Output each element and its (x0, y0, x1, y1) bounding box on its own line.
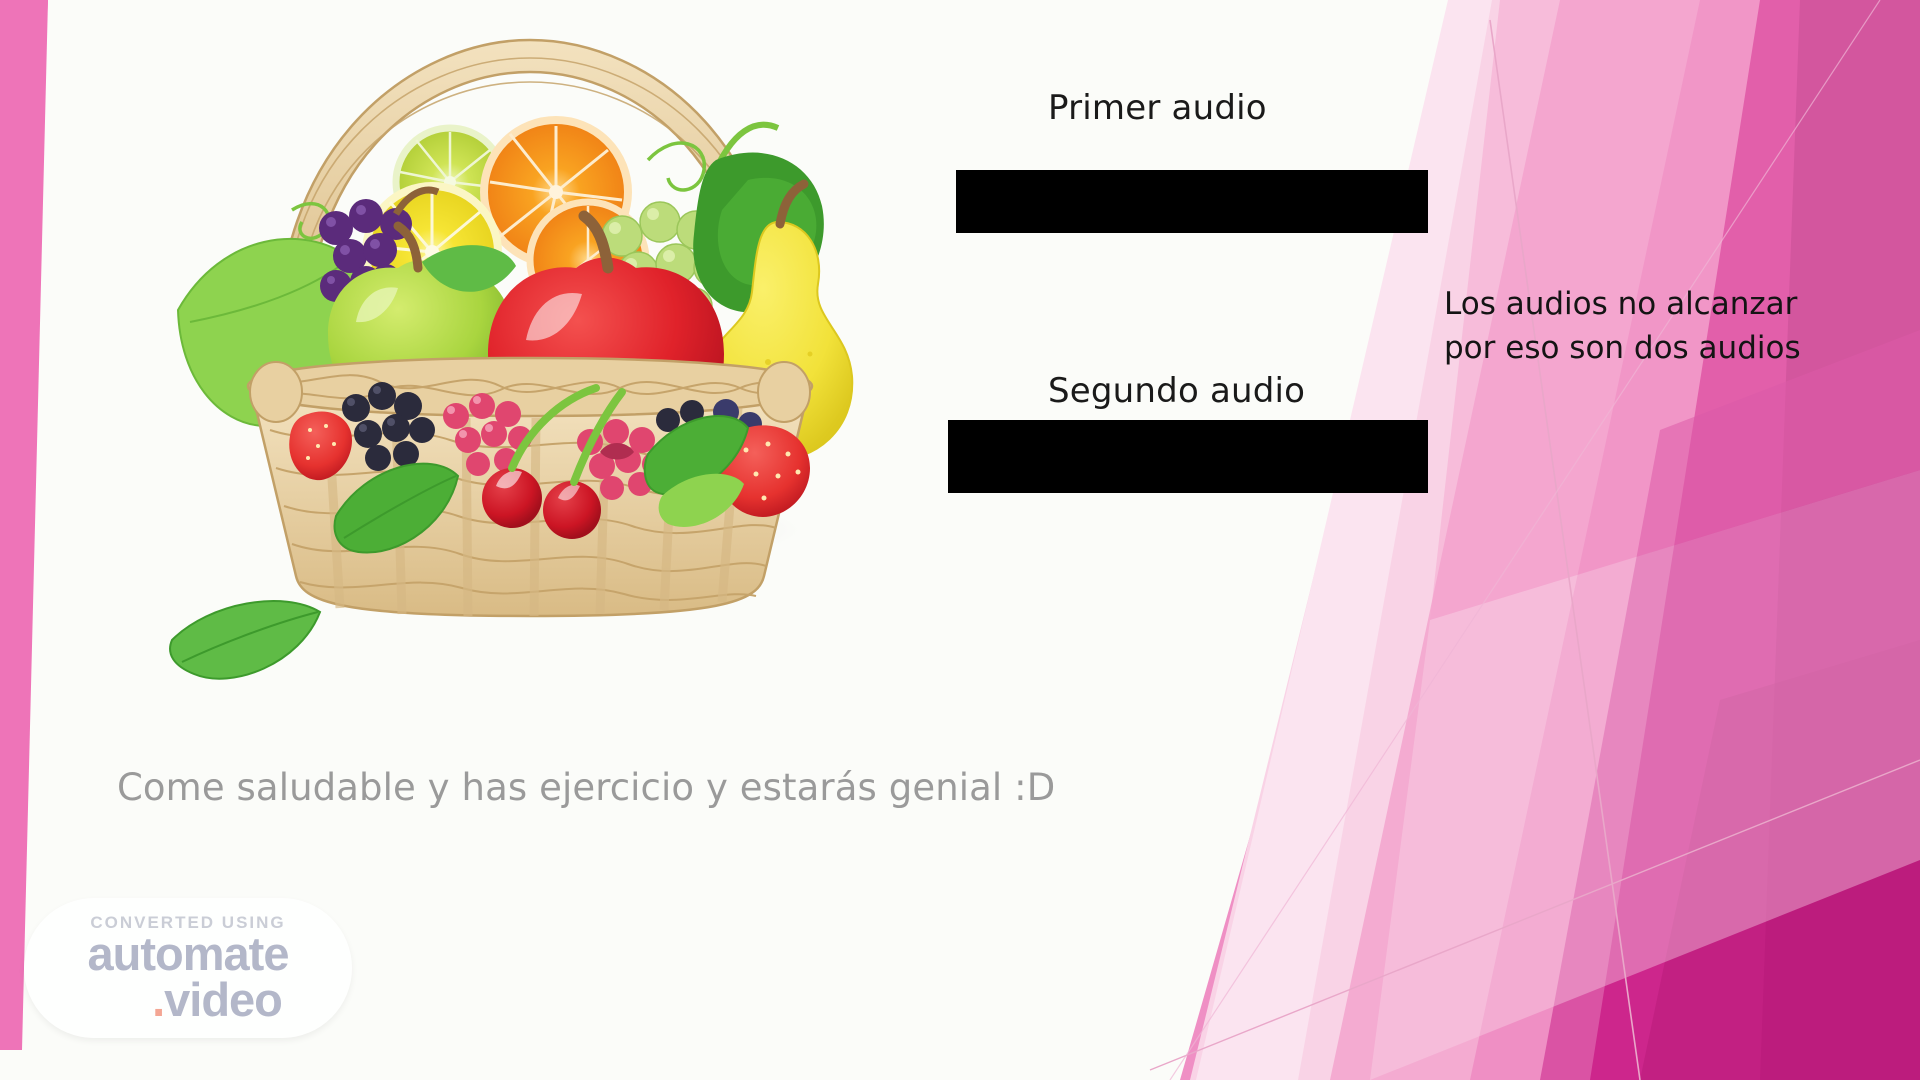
watermark-suffix-row: .video (152, 977, 282, 1023)
second-audio-redaction-bar[interactable] (948, 420, 1428, 493)
slide-caption: Come saludable y has ejercicio y estarás… (117, 766, 1055, 809)
fruit-basket-illustration (160, 10, 900, 710)
presentation-slide: Primer audio Segundo audio Los audios no… (0, 0, 1920, 1080)
first-audio-redaction-bar[interactable] (956, 170, 1428, 233)
leaf-detached-ground (170, 601, 320, 679)
basket-knob-left (250, 362, 302, 422)
watermark-suffix-text: video (164, 973, 282, 1026)
basket-knob-right (758, 362, 810, 422)
second-audio-label: Segundo audio (1048, 371, 1305, 411)
audio-note-line-1: Los audios no alcanzar (1444, 282, 1814, 326)
first-audio-label: Primer audio (1048, 88, 1267, 128)
watermark-brand-text: automate (88, 931, 289, 977)
automate-video-watermark: CONVERTED USING automate .video (24, 898, 352, 1038)
audio-note-text: Los audios no alcanzar por eso son dos a… (1444, 282, 1814, 370)
watermark-dot: . (152, 973, 164, 1026)
audio-note-line-2: por eso son dos audios (1444, 326, 1814, 370)
